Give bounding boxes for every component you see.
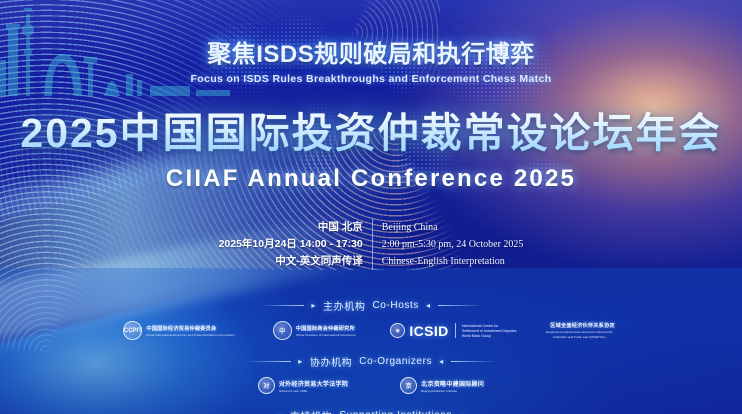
conference-poster: 聚焦ISDS规则破局和执行博弈 Focus on ISDS Rules Brea…: [0, 0, 742, 414]
section-header-supporting: ▸ 支持机构 Supporting Institutions ◂: [0, 408, 742, 414]
supporting-label-cn: 支持机构: [290, 408, 332, 414]
arrow-right-icon: ▸: [311, 301, 316, 310]
organization-seal-icon: 对: [258, 377, 275, 394]
icsid-subtitle-line: Settlement of Investment Disputes: [462, 329, 517, 333]
org-name-en: Regional Comprehensive Economic Partners…: [546, 330, 612, 334]
venue-cn: 中国 北京: [219, 219, 363, 236]
org-name-cn: 对外经济贸易大学法学院: [279, 379, 348, 388]
page-title-english: CIIAF Annual Conference 2025: [0, 165, 742, 193]
organization-seal-icon: 京: [400, 377, 417, 394]
headline-block: 聚焦ISDS规则破局和执行博弈 Focus on ISDS Rules Brea…: [0, 34, 742, 85]
section-header-coorganizers: ▸ 协办机构 Co-Organizers ◂: [0, 354, 742, 369]
page-title: 2025中国国际投资仲裁常设论坛年会: [0, 99, 742, 159]
arrow-right-icon: ▸: [298, 357, 303, 366]
logo-item[interactable]: 区域全面经济伙伴关系协定 Regional Comprehensive Econ…: [543, 320, 621, 341]
cohosts-logo-row: CCPIT 中国国际经济贸易仲裁委员会 China International …: [0, 319, 742, 342]
icsid-subtitle-line: International Centre for: [462, 324, 517, 328]
headline-chinese: 聚焦ISDS规则破局和执行博弈: [0, 34, 742, 69]
rule-left: [258, 305, 304, 306]
organization-seal-icon: 中: [273, 321, 292, 340]
datetime-en: 2:00 pm-5:30 pm, 24 October 2025: [382, 236, 524, 253]
org-name-en: Beijing Arbitration Institute: [421, 389, 479, 393]
event-details-chinese: 中国 北京 2025年10月24日 14:00 - 17:30 中文-英文同声传…: [219, 219, 372, 270]
logo-item[interactable]: 对 对外经济贸易大学法学院 School of Law, UIBE: [255, 375, 351, 396]
headline-english: Focus on ISDS Rules Breakthroughs and En…: [0, 73, 742, 85]
supporting-label-en: Supporting Institutions: [339, 410, 452, 414]
datetime-cn: 2025年10月24日 14:00 - 17:30: [219, 236, 363, 253]
event-details: 中国 北京 2025年10月24日 14:00 - 17:30 中文-英文同声传…: [0, 219, 742, 270]
org-name-cn: 区域全面经济伙伴关系协定: [546, 322, 618, 329]
organization-seal-icon: CCPIT: [123, 321, 142, 340]
arrow-left-icon: ◂: [439, 357, 444, 366]
rule-right: [451, 361, 497, 362]
icsid-globe-icon: ◉: [390, 323, 405, 338]
coorganizers-logo-row: 对 对外经济贸易大学法学院 School of Law, UIBE 京 北京资略…: [0, 375, 742, 396]
cohosts-label-cn: 主办机构: [323, 298, 365, 313]
org-name-cn: 中国国际经济贸易仲裁委员会: [146, 325, 242, 332]
org-name-en-2: Arbitration and Trade Law (RCEPTAL): [546, 335, 612, 339]
org-name-cn: 北京资略中建国际顾问: [421, 379, 484, 388]
interpretation-en: Chinese-English Interpretation: [382, 253, 524, 270]
arrow-left-icon: ◂: [426, 301, 431, 310]
event-details-english: Beijing China 2:00 pm-5:30 pm, 24 Octobe…: [373, 219, 524, 270]
icsid-divider: [455, 323, 456, 338]
logo-item[interactable]: 中 中国国际商会仲裁研究所 China Chamber of Internati…: [270, 319, 364, 342]
icsid-subtitle-line: World Bank Group: [462, 334, 517, 338]
coorganizers-label-cn: 协办机构: [310, 354, 352, 369]
org-name-en: China International Economic and Trade A…: [146, 333, 235, 337]
org-name-cn: 中国国际商会仲裁研究所: [296, 325, 361, 332]
rule-left: [245, 361, 291, 362]
section-header-cohosts: ▸ 主办机构 Co-Hosts ◂: [0, 298, 742, 313]
logo-item-icsid[interactable]: ◉ ICSID International Centre for Settlem…: [387, 321, 519, 341]
org-name-en: China Chamber of International Commerce: [296, 333, 355, 337]
interpretation-cn: 中文-英文同声传译: [219, 253, 363, 270]
logo-item[interactable]: CCPIT 中国国际经济贸易仲裁委员会 China International …: [120, 319, 245, 342]
coorganizers-label-en: Co-Organizers: [359, 356, 432, 367]
org-name-en: School of Law, UIBE: [279, 389, 343, 393]
icsid-wordmark: ICSID: [409, 323, 448, 339]
rule-right: [438, 305, 484, 306]
venue-en: Beijing China: [382, 219, 524, 236]
logo-item[interactable]: 京 北京资略中建国际顾问 Beijing Arbitration Institu…: [397, 375, 487, 396]
cohosts-label-en: Co-Hosts: [372, 300, 418, 311]
